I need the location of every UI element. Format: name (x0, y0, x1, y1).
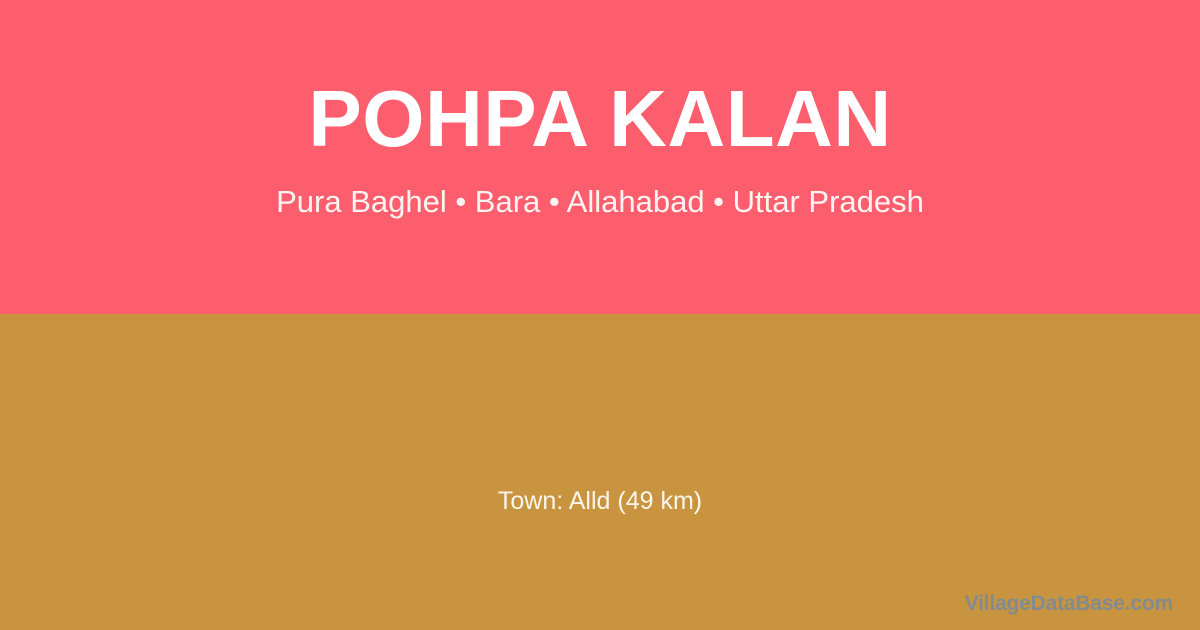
breadcrumb: Pura Baghel • Bara • Allahabad • Uttar P… (276, 185, 924, 219)
village-info-card: POHPA KALAN Pura Baghel • Bara • Allahab… (0, 0, 1200, 630)
header-band: POHPA KALAN Pura Baghel • Bara • Allahab… (0, 0, 1200, 314)
nearest-town-label: Town: Alld (49 km) (0, 486, 1200, 516)
page-title: POHPA KALAN (308, 79, 891, 159)
body-band: Town: Alld (49 km) VillageDataBase.com (0, 314, 1200, 630)
site-watermark: VillageDataBase.com (965, 593, 1173, 614)
